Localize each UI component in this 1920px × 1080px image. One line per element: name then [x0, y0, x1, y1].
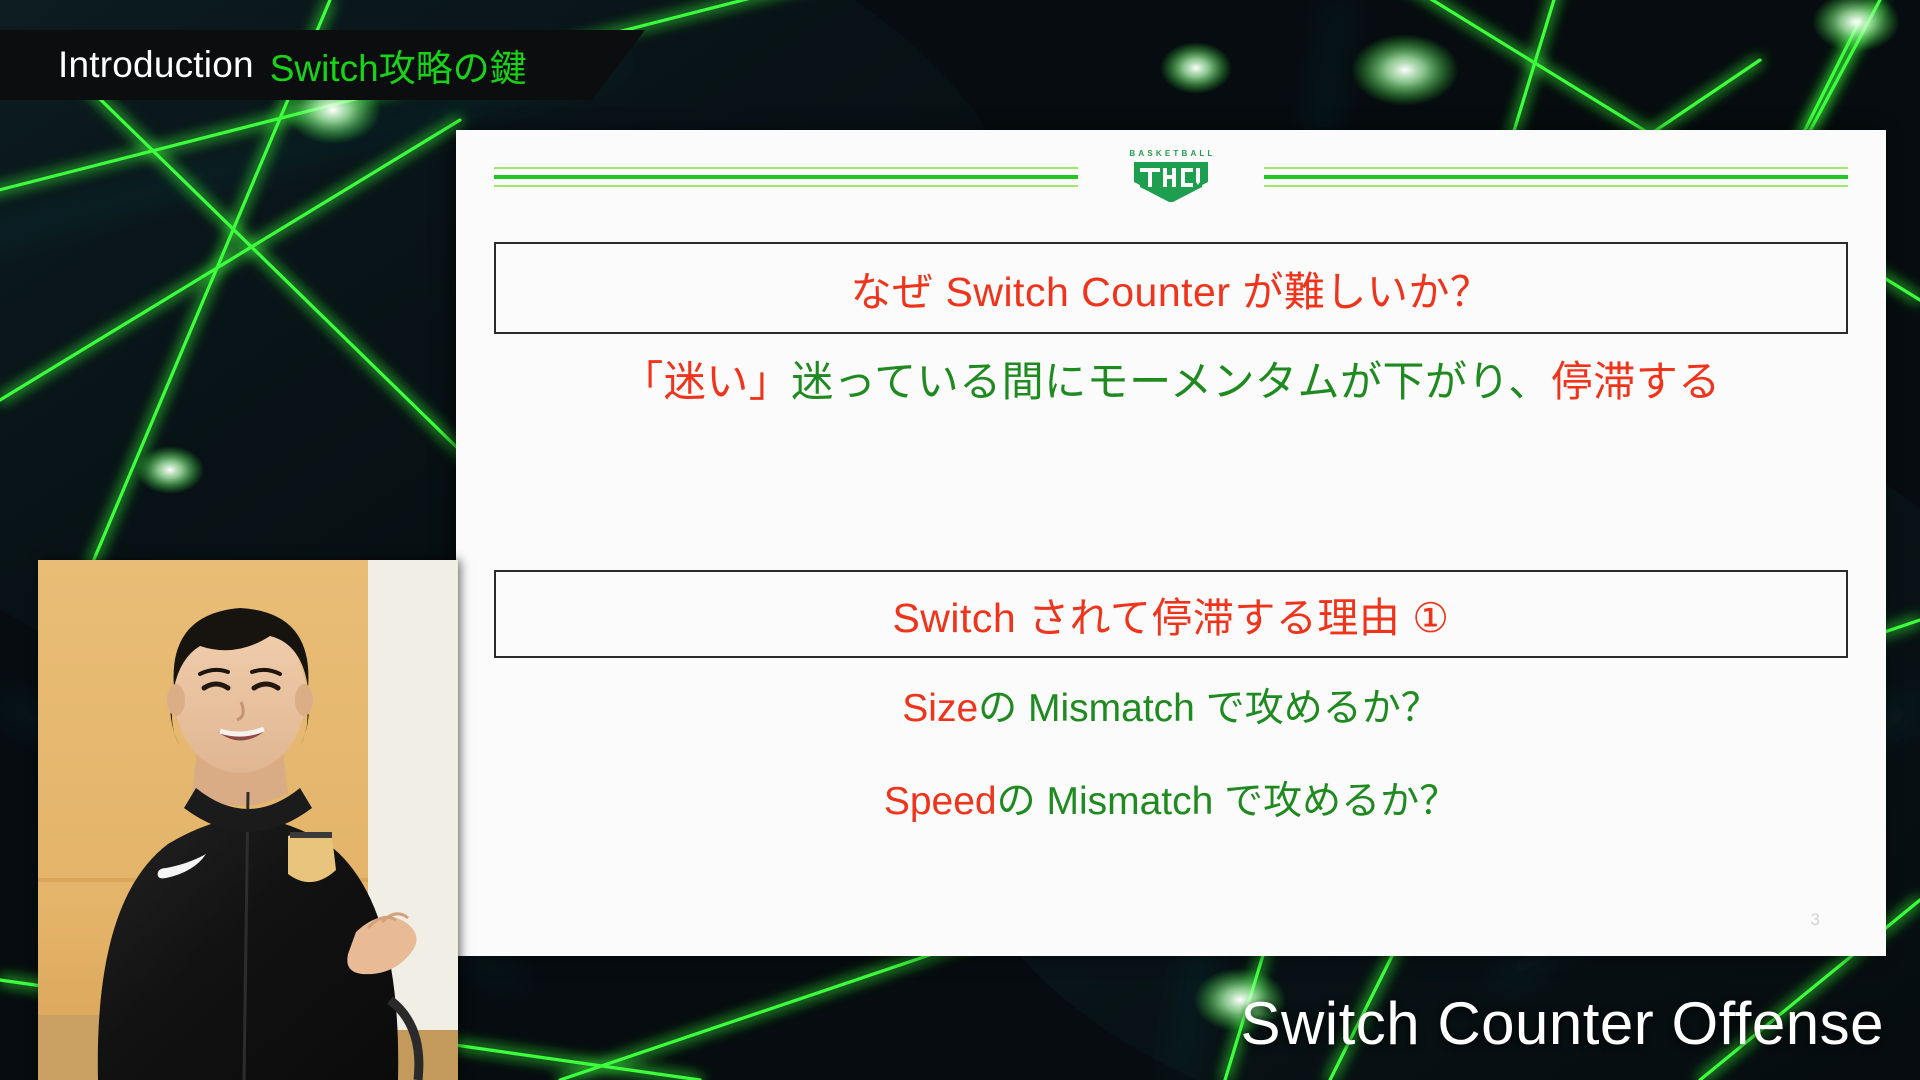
- section-title-japanese: Switch攻略の鍵: [270, 38, 527, 92]
- decor-rule-thin-bottom: [494, 185, 1078, 187]
- line-mayoi-part1: 「迷い」: [621, 358, 791, 405]
- line-size-part2: の Mismatch で攻めるか？: [978, 687, 1440, 730]
- heading-reason-text: Switch されて停滞する理由 ①: [892, 584, 1449, 644]
- logo-wordmark-top: BASKETBALL: [1126, 149, 1215, 158]
- slide-page-number: 3: [1811, 910, 1820, 930]
- slide-header-decoration: BASKETBALL: [456, 130, 1886, 220]
- heading-box-why: なぜ Switch Counter が難しいか？: [494, 242, 1848, 334]
- line-size-mismatch: Sizeの Mismatch で攻めるか？: [456, 677, 1886, 733]
- decor-rule-thin-top: [494, 167, 1078, 169]
- line-speed-mismatch: Speedの Mismatch で攻めるか？: [456, 770, 1886, 826]
- brand-title: Switch Counter Offense: [1240, 989, 1884, 1058]
- decor-rule-thin-top-right: [1264, 167, 1848, 169]
- decor-rules-left: [494, 167, 1078, 187]
- heading-why-text: なぜ Switch Counter が難しいか？: [851, 258, 1492, 318]
- section-title-banner: Introduction Switch攻略の鍵: [0, 30, 645, 100]
- decor-rule-thick: [494, 175, 1078, 179]
- thcv-basketball-logo: BASKETBALL: [1096, 149, 1246, 202]
- decor-rules-right: [1264, 167, 1848, 187]
- line-speed-part2: の Mismatch で攻めるか？: [997, 780, 1459, 823]
- presentation-stage: Introduction Switch攻略の鍵 BASKETBALL: [0, 0, 1920, 1080]
- line-mayoi: 「迷い」迷っている間にモーメンタムが下がり、停滞する: [456, 348, 1886, 409]
- heading-box-reason: Switch されて停滞する理由 ①: [494, 570, 1848, 658]
- decor-rule-thick-right: [1264, 175, 1848, 179]
- line-size-part1: Size: [902, 687, 978, 730]
- presenter-image: [38, 560, 458, 1080]
- decor-rule-thin-bottom-right: [1264, 185, 1848, 187]
- presenter-video-thumbnail[interactable]: [38, 560, 458, 1080]
- logo-shield-icon: [1132, 160, 1210, 202]
- slide-panel: BASKETBALL: [456, 130, 1886, 956]
- line-mayoi-part3: 停滞する: [1551, 358, 1721, 405]
- line-mayoi-part2: 迷っている間にモーメンタムが下がり、: [791, 358, 1551, 405]
- line-speed-part1: Speed: [884, 780, 997, 823]
- section-title-english: Introduction: [58, 44, 254, 86]
